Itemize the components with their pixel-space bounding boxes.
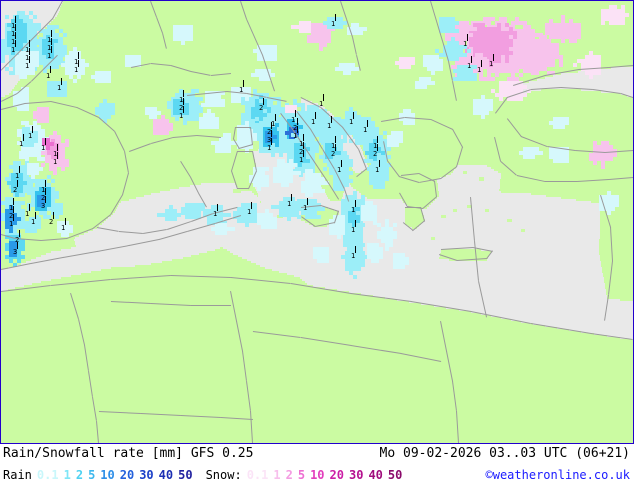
weather-map-screenshot: 1111111111111111111121231211122311211212… bbox=[0, 0, 634, 490]
coastline-sardinia bbox=[237, 188, 249, 189]
rain-cell bbox=[485, 111, 489, 115]
snow-cell bbox=[469, 25, 473, 29]
precip-value-label: 1 bbox=[331, 21, 335, 28]
precip-value-label: 1 bbox=[363, 127, 367, 134]
precip-tick bbox=[78, 60, 79, 67]
precip-tick bbox=[341, 160, 342, 167]
island-0 bbox=[233, 189, 241, 193]
snow-cell bbox=[53, 171, 57, 175]
snow-cell bbox=[625, 13, 629, 17]
rain-step-6: 30 bbox=[139, 468, 153, 482]
precip-tick bbox=[183, 90, 184, 97]
rain-cell bbox=[349, 163, 353, 167]
rain-cell bbox=[357, 267, 361, 271]
rain-cell bbox=[107, 79, 111, 83]
precip-value-label: 1 bbox=[311, 119, 315, 126]
rain-cell bbox=[273, 135, 277, 139]
precip-value-label: 1 bbox=[47, 53, 51, 60]
rain-step-5: 20 bbox=[120, 468, 134, 482]
precip-tick bbox=[353, 112, 354, 119]
precip-tick bbox=[331, 116, 332, 123]
precip-tick bbox=[263, 98, 264, 105]
snow-cell bbox=[577, 35, 581, 39]
valid-time-label: Mo 09-02-2026 03..03 UTC (06+21) bbox=[380, 446, 630, 461]
precip-tick bbox=[251, 202, 252, 209]
precip-value-label: 1 bbox=[351, 227, 355, 234]
precip-value-label: 1 bbox=[319, 101, 323, 108]
land-levant bbox=[620, 299, 633, 301]
snow-step-6: 30 bbox=[349, 468, 363, 482]
precip-value-label: 1 bbox=[349, 119, 353, 126]
rain-cell bbox=[77, 75, 81, 79]
island-11 bbox=[453, 209, 457, 212]
precip-value-label: 1 bbox=[25, 63, 29, 70]
precip-tick bbox=[271, 122, 272, 129]
rain-cell bbox=[85, 63, 89, 67]
precip-value-label: 1 bbox=[11, 47, 15, 54]
coastline-sardinia bbox=[237, 151, 253, 152]
snow-cell bbox=[45, 119, 49, 123]
rain-cell bbox=[356, 219, 360, 223]
rain-cell bbox=[199, 97, 203, 101]
rain-cell bbox=[275, 143, 279, 147]
snow-cell bbox=[519, 97, 523, 101]
precip-tick bbox=[315, 112, 316, 119]
precip-tick bbox=[15, 24, 16, 31]
rain-cell bbox=[201, 207, 205, 211]
precip-tick bbox=[377, 136, 378, 143]
rain-cell bbox=[293, 163, 297, 167]
precip-tick bbox=[367, 120, 368, 127]
precip-tick bbox=[51, 30, 52, 37]
precip-tick bbox=[295, 110, 296, 117]
rain-legend-steps: 0.11251020304050 bbox=[37, 468, 198, 482]
rain-cell bbox=[273, 57, 277, 61]
snow-cell bbox=[319, 47, 323, 51]
rain-cell bbox=[455, 29, 459, 33]
precip-value-label: 1 bbox=[57, 85, 61, 92]
rain-cell bbox=[19, 189, 23, 193]
rain-cell bbox=[361, 263, 365, 267]
snow-step-8: 50 bbox=[388, 468, 402, 482]
snow-cell bbox=[469, 33, 473, 37]
precip-tick bbox=[23, 134, 24, 141]
rain-cell bbox=[21, 193, 25, 197]
product-title: Rain/Snowfall rate [mm] GFS 0.25 bbox=[3, 446, 253, 461]
rain-cell bbox=[183, 121, 187, 125]
snow-step-5: 20 bbox=[330, 468, 344, 482]
snow-cell bbox=[411, 61, 415, 65]
rain-cell bbox=[297, 171, 301, 175]
rain-step-7: 40 bbox=[159, 468, 173, 482]
precip-value-label: 1 bbox=[287, 201, 291, 208]
precip-tick bbox=[45, 180, 46, 187]
precip-value-label: 1 bbox=[53, 159, 57, 166]
precip-value-label: 3 bbox=[41, 203, 45, 210]
snow-step-3: 5 bbox=[298, 468, 305, 482]
rain-cell bbox=[215, 125, 219, 129]
precip-value-label: 1 bbox=[247, 209, 251, 216]
sea-balearic bbox=[106, 265, 135, 267]
snow-cell bbox=[327, 39, 331, 43]
precip-value-label: 1 bbox=[61, 225, 65, 232]
rain-cell bbox=[31, 175, 35, 179]
precip-value-label: 1 bbox=[337, 167, 341, 174]
precip-tick bbox=[29, 204, 30, 211]
rain-cell bbox=[395, 143, 399, 147]
rain-cell bbox=[54, 39, 58, 43]
island-15 bbox=[507, 219, 512, 222]
rain-cell bbox=[221, 103, 225, 107]
snow-cell bbox=[561, 39, 565, 43]
snow-step-2: 2 bbox=[286, 468, 293, 482]
coastline-peloponnese bbox=[405, 207, 421, 208]
rain-cell bbox=[473, 77, 477, 81]
precip-value-label: 1 bbox=[299, 157, 303, 164]
rain-cell bbox=[385, 177, 389, 181]
precip-tick bbox=[355, 200, 356, 207]
precip-value-label: 2 bbox=[259, 105, 263, 112]
rain-cell bbox=[13, 221, 17, 225]
rain-cell bbox=[35, 63, 39, 67]
rain-cell bbox=[401, 265, 405, 269]
precip-color-scale: Rain 0.11251020304050 Snow: 0.1125102030… bbox=[3, 468, 407, 482]
precip-value-label: 1 bbox=[41, 145, 45, 152]
precip-tick bbox=[183, 106, 184, 113]
footer-title-row: Rain/Snowfall rate [mm] GFS 0.25 Mo 09-0… bbox=[0, 445, 634, 466]
snow-cell bbox=[559, 63, 563, 67]
rain-cell bbox=[337, 235, 341, 239]
rain-cell bbox=[253, 137, 257, 141]
precip-value-label: 1 bbox=[267, 145, 271, 152]
rain-cell bbox=[273, 225, 277, 229]
precip-tick bbox=[291, 194, 292, 201]
snow-cell bbox=[601, 21, 605, 25]
rain-cell bbox=[481, 115, 485, 119]
rain-cell bbox=[565, 159, 569, 163]
snow-cell bbox=[491, 77, 495, 81]
snow-cell bbox=[519, 73, 523, 77]
rain-cell bbox=[227, 149, 231, 153]
precip-value-label: 2 bbox=[49, 219, 53, 226]
rain-cell bbox=[35, 171, 39, 175]
precip-tick bbox=[481, 60, 482, 67]
rain-cell bbox=[439, 67, 443, 71]
snow-cell bbox=[483, 65, 487, 69]
rain-step-0: 0.1 bbox=[37, 468, 59, 482]
precip-value-label: 1 bbox=[179, 113, 183, 120]
precip-tick bbox=[335, 144, 336, 151]
border-africa-4 bbox=[191, 305, 231, 306]
snow-cell bbox=[593, 161, 597, 165]
rain-cell bbox=[375, 259, 379, 263]
precip-tick bbox=[29, 40, 30, 47]
island-16 bbox=[521, 229, 525, 232]
precip-tick bbox=[15, 16, 16, 23]
precip-tick bbox=[50, 66, 51, 73]
rain-cell bbox=[289, 179, 293, 183]
snow-step-4: 10 bbox=[310, 468, 324, 482]
precip-tick bbox=[379, 160, 380, 167]
rain-cell bbox=[55, 215, 59, 219]
weather-map[interactable]: 1111111111111111111121231211122311211212… bbox=[0, 0, 634, 444]
precip-tick bbox=[271, 138, 272, 145]
precip-tick bbox=[61, 78, 62, 85]
rain-cell bbox=[31, 71, 35, 75]
rain-cell bbox=[55, 65, 59, 69]
rain-cell bbox=[55, 195, 59, 199]
precip-tick bbox=[307, 198, 308, 205]
rain-step-8: 50 bbox=[178, 468, 192, 482]
rain-cell bbox=[531, 155, 535, 159]
snow-cell bbox=[495, 73, 499, 77]
precip-tick bbox=[19, 166, 20, 173]
rain-cell bbox=[455, 57, 459, 61]
precip-tick bbox=[335, 14, 336, 21]
precip-value-label: 1 bbox=[291, 117, 295, 124]
precip-tick bbox=[53, 212, 54, 219]
rain-cell bbox=[315, 149, 319, 153]
snow-cell bbox=[573, 63, 577, 67]
precip-value-label: 1 bbox=[74, 67, 78, 74]
precip-tick bbox=[57, 144, 58, 151]
snow-legend-label: Snow: bbox=[206, 468, 242, 482]
rain-cell bbox=[21, 247, 25, 251]
snow-cell bbox=[165, 131, 169, 135]
rain-cell bbox=[189, 37, 193, 41]
precip-tick bbox=[29, 56, 30, 63]
snow-cell bbox=[573, 39, 577, 43]
land-africa bbox=[1, 441, 633, 443]
precip-value-label: 1 bbox=[467, 63, 471, 70]
rain-cell bbox=[341, 231, 345, 235]
rain-cell bbox=[23, 155, 27, 159]
island-4 bbox=[401, 187, 405, 190]
island-17 bbox=[557, 187, 564, 192]
island-9 bbox=[479, 177, 484, 181]
rain-cell bbox=[69, 229, 73, 233]
island-5 bbox=[413, 165, 418, 169]
precip-tick bbox=[377, 144, 378, 151]
rain-cell bbox=[611, 207, 615, 211]
rain-cell bbox=[265, 183, 269, 187]
precip-tick bbox=[303, 150, 304, 157]
precip-tick bbox=[78, 52, 79, 59]
rain-cell bbox=[271, 73, 275, 77]
rain-cell bbox=[287, 217, 291, 221]
precip-tick bbox=[35, 212, 36, 219]
precip-tick bbox=[217, 204, 218, 211]
rain-cell bbox=[463, 53, 467, 57]
rain-cell bbox=[107, 115, 111, 119]
map-canvas: 1111111111111111111121231211122311211212… bbox=[1, 1, 633, 443]
rain-cell bbox=[379, 255, 383, 259]
rain-cell bbox=[1, 59, 5, 63]
rain-cell bbox=[363, 27, 367, 31]
rain-cell bbox=[17, 217, 21, 221]
precip-tick bbox=[45, 196, 46, 203]
island-10 bbox=[441, 215, 446, 218]
precip-tick bbox=[45, 138, 46, 145]
rain-cell bbox=[9, 229, 13, 233]
rain-cell bbox=[245, 223, 249, 227]
precip-value-label: 1 bbox=[293, 133, 297, 140]
precip-value-label: 1 bbox=[489, 61, 493, 68]
rain-cell bbox=[51, 179, 55, 183]
rain-cell bbox=[467, 49, 471, 53]
rain-cell bbox=[361, 243, 365, 247]
precip-value-label: 1 bbox=[46, 73, 50, 80]
rain-legend-label: Rain bbox=[3, 468, 32, 482]
precip-tick bbox=[303, 134, 304, 141]
snow-cell bbox=[61, 167, 65, 171]
snow-cell bbox=[497, 59, 501, 63]
rain-cell bbox=[17, 259, 21, 263]
rain-cell bbox=[177, 213, 181, 217]
rain-cell bbox=[393, 235, 397, 239]
snow-cell bbox=[589, 75, 593, 79]
island-6 bbox=[429, 159, 435, 163]
precip-tick bbox=[13, 214, 14, 221]
snow-cell bbox=[601, 165, 605, 169]
rain-cell bbox=[431, 71, 435, 75]
island-7 bbox=[447, 157, 452, 160]
precip-value-label: 1 bbox=[477, 67, 481, 74]
island-13 bbox=[485, 209, 489, 212]
rain-cell bbox=[431, 81, 435, 85]
rain-cell bbox=[615, 203, 619, 207]
precip-tick bbox=[335, 136, 336, 143]
footer-legend-row: Rain 0.11251020304050 Snow: 0.1125102030… bbox=[0, 466, 634, 487]
precip-value-label: 1 bbox=[375, 167, 379, 174]
rain-cell bbox=[423, 85, 427, 89]
rain-cell bbox=[385, 247, 389, 251]
snow-cell bbox=[513, 35, 517, 39]
snow-cell bbox=[621, 21, 625, 25]
rain-cell bbox=[356, 207, 360, 211]
rain-cell bbox=[81, 71, 85, 75]
rain-cell bbox=[321, 189, 325, 193]
island-8 bbox=[463, 171, 467, 174]
map-footer: Rain/Snowfall rate [mm] GFS 0.25 Mo 09-0… bbox=[0, 445, 634, 490]
rain-cell bbox=[39, 167, 43, 171]
precip-value-label: 1 bbox=[213, 211, 217, 218]
copyright-notice[interactable]: ©weatheronline.co.uk bbox=[486, 468, 631, 482]
precip-value-label: 1 bbox=[303, 205, 307, 212]
rain-cell bbox=[337, 151, 341, 155]
snow-cell bbox=[609, 157, 613, 161]
snow-cell bbox=[597, 71, 601, 75]
precip-value-label: 1 bbox=[463, 41, 467, 48]
precip-value-label: 1 bbox=[327, 123, 331, 130]
precip-tick bbox=[51, 46, 52, 53]
precip-tick bbox=[355, 246, 356, 253]
snow-cell bbox=[307, 29, 311, 33]
rain-step-3: 5 bbox=[88, 468, 95, 482]
snow-cell bbox=[509, 51, 513, 55]
rain-cell bbox=[63, 33, 67, 37]
snow-cell bbox=[523, 93, 527, 97]
rain-step-4: 10 bbox=[100, 468, 114, 482]
rain-cell bbox=[59, 211, 63, 215]
precip-value-label: 1 bbox=[15, 173, 19, 180]
rain-cell bbox=[5, 15, 9, 19]
rain-cell bbox=[181, 41, 185, 45]
precip-tick bbox=[51, 38, 52, 45]
snow-cell bbox=[65, 163, 69, 167]
precip-tick bbox=[57, 152, 58, 159]
coastline-corsica bbox=[235, 127, 251, 128]
snow-cell bbox=[169, 127, 173, 131]
precip-tick bbox=[323, 94, 324, 101]
precip-tick bbox=[17, 242, 18, 249]
precip-value-label: 1 bbox=[351, 253, 355, 260]
precip-tick bbox=[13, 206, 14, 213]
rain-cell bbox=[30, 143, 34, 147]
precip-value-label: 2 bbox=[13, 187, 17, 194]
rain-cell bbox=[173, 217, 177, 221]
snow-cell bbox=[407, 65, 411, 69]
precip-value-label: 1 bbox=[19, 141, 23, 148]
precip-value-label: 2 bbox=[331, 151, 335, 158]
snow-step-7: 40 bbox=[368, 468, 382, 482]
rain-cell bbox=[323, 167, 327, 171]
precip-tick bbox=[45, 188, 46, 195]
rain-cell bbox=[21, 255, 25, 259]
precip-value-label: 1 bbox=[351, 207, 355, 214]
precip-tick bbox=[471, 56, 472, 63]
rain-cell bbox=[231, 227, 235, 231]
rain-cell bbox=[349, 179, 353, 183]
precip-tick bbox=[275, 114, 276, 121]
snow-cell bbox=[46, 146, 50, 150]
precip-value-label: 1 bbox=[25, 211, 29, 218]
precip-tick bbox=[65, 218, 66, 225]
precip-tick bbox=[493, 54, 494, 61]
precip-tick bbox=[271, 130, 272, 137]
snow-step-0: 0.1 bbox=[247, 468, 269, 482]
precip-tick bbox=[13, 198, 14, 205]
rain-cell bbox=[405, 261, 409, 265]
rain-cell bbox=[33, 15, 37, 19]
rain-cell bbox=[223, 231, 227, 235]
rain-cell bbox=[561, 125, 565, 129]
precip-value-label: 1 bbox=[31, 219, 35, 226]
rain-cell bbox=[63, 93, 67, 97]
rain-cell bbox=[387, 147, 391, 151]
snow-cell bbox=[499, 97, 503, 101]
precip-tick bbox=[17, 180, 18, 187]
precip-tick bbox=[467, 34, 468, 41]
precip-tick bbox=[183, 98, 184, 105]
rain-cell bbox=[343, 139, 347, 143]
precip-value-label: 3 bbox=[13, 249, 17, 256]
rain-cell bbox=[279, 153, 283, 157]
rain-cell bbox=[455, 21, 459, 25]
rain-cell bbox=[317, 215, 321, 219]
rain-cell bbox=[565, 121, 569, 125]
precip-tick bbox=[19, 230, 20, 237]
snow-step-1: 1 bbox=[273, 468, 280, 482]
coastline-turkey-s bbox=[545, 181, 577, 182]
sea-med-africa bbox=[408, 299, 471, 301]
rain-cell bbox=[339, 25, 343, 29]
rain-cell bbox=[195, 89, 199, 93]
rain-cell bbox=[37, 225, 41, 229]
snow-legend-steps: 0.11251020304050 bbox=[247, 468, 408, 482]
precip-value-label: 2 bbox=[373, 151, 377, 158]
snow-cell bbox=[65, 143, 69, 147]
